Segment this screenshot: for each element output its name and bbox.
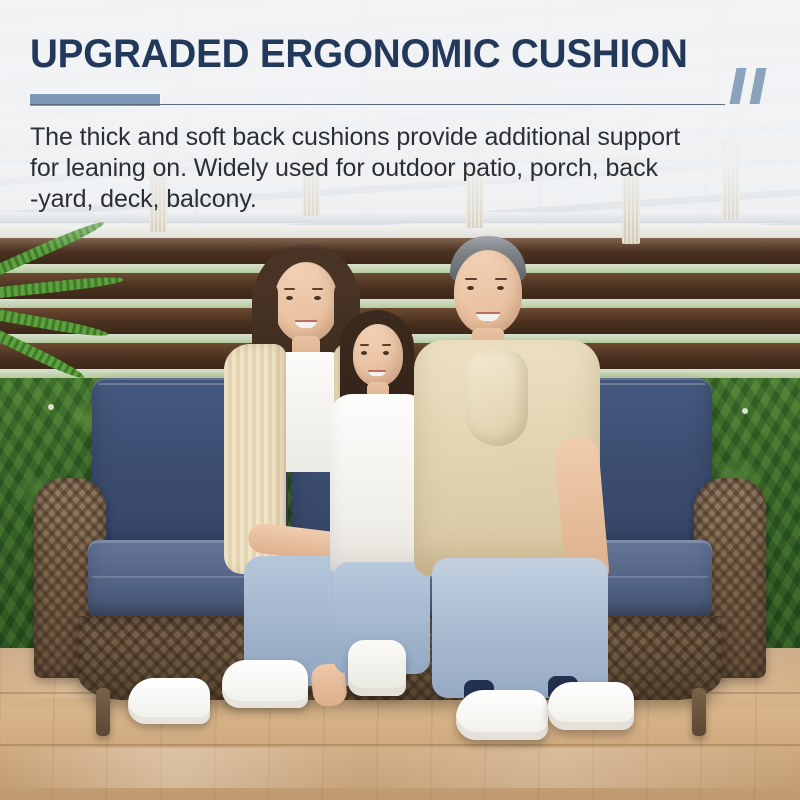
description-line: -yard, deck, balcony. — [30, 184, 736, 215]
quote-stroke-one — [730, 68, 747, 104]
shoe-woman-right — [222, 660, 308, 708]
sofa-leg-left — [96, 688, 110, 736]
description-line: The thick and soft back cushions provide… — [30, 122, 736, 153]
man-head — [454, 250, 522, 334]
girl-brow-left — [360, 344, 369, 346]
girl-head — [353, 324, 403, 386]
woman-eye-right — [314, 296, 321, 300]
quote-mark-icon — [733, 68, 777, 104]
quote-stroke-two — [750, 68, 767, 104]
man-eye-left — [467, 286, 474, 290]
man-brow-right — [495, 278, 507, 280]
shoe-girl-left — [348, 640, 406, 696]
slat-highlight — [0, 225, 800, 238]
woman-brow-right — [312, 288, 323, 290]
woman-eye-left — [286, 296, 293, 300]
man-brow-left — [465, 278, 477, 280]
man-hood-drape — [466, 350, 528, 446]
shoe-man-left — [456, 690, 548, 740]
shoe-woman-left — [128, 678, 210, 724]
shoe-man-right — [548, 682, 634, 730]
palm-frond — [0, 274, 125, 299]
sofa-leg-right — [692, 688, 706, 736]
product-feature-banner: UPGRADED ERGONOMIC CUSHION The thick and… — [0, 0, 800, 800]
page-title: UPGRADED ERGONOMIC CUSHION — [30, 31, 706, 77]
title-divider — [30, 94, 725, 106]
divider-line — [30, 104, 725, 105]
man-eye-right — [497, 286, 504, 290]
description-line: for leaning on. Widely used for outdoor … — [30, 153, 736, 184]
person-man — [420, 228, 650, 718]
girl-eye-right — [383, 351, 389, 355]
description-text: The thick and soft back cushions provide… — [30, 122, 736, 215]
girl-eye-left — [361, 351, 367, 355]
floor-reflection — [0, 748, 800, 788]
patio-photo-scene — [0, 0, 800, 800]
floor-plank-seam — [0, 744, 800, 746]
woman-brow-left — [284, 288, 295, 290]
man-jeans — [432, 558, 608, 698]
girl-brow-right — [382, 344, 391, 346]
